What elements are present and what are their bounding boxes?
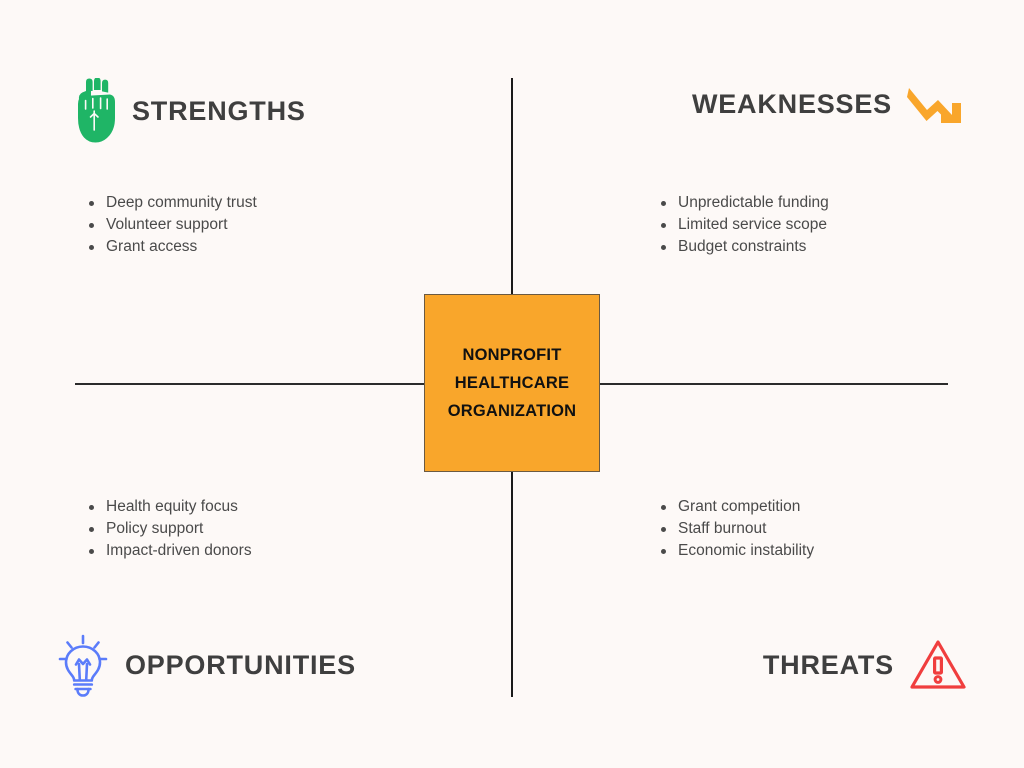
list-item: Grant access — [86, 236, 257, 258]
list-item: Grant competition — [658, 496, 814, 518]
threats-list: Grant competition Staff burnout Economic… — [658, 496, 814, 562]
swot-diagram: STRENGTHS Deep community trust Volunteer… — [0, 0, 1024, 768]
list-item: Unpredictable funding — [658, 192, 829, 214]
list-item: Economic instability — [658, 540, 814, 562]
list-item: Deep community trust — [86, 192, 257, 214]
center-node-line-3: ORGANIZATION — [448, 397, 577, 425]
quadrant-label-strengths: STRENGTHS — [132, 96, 306, 127]
quadrant-label-threats: THREATS — [763, 650, 894, 681]
list-item: Impact-driven donors — [86, 540, 252, 562]
list-item: Volunteer support — [86, 214, 257, 236]
weaknesses-list: Unpredictable funding Limited service sc… — [658, 192, 829, 258]
lightbulb-icon — [55, 633, 111, 697]
trending-down-arrow-icon — [906, 80, 964, 128]
quadrant-heading-opportunities: OPPORTUNITIES — [55, 633, 356, 697]
quadrant-heading-threats: THREATS — [763, 637, 968, 693]
list-item: Budget constraints — [658, 236, 829, 258]
center-node-line-1: NONPROFIT — [463, 341, 562, 369]
raised-fist-icon — [74, 78, 118, 144]
list-item: Policy support — [86, 518, 252, 540]
warning-triangle-icon — [908, 637, 968, 693]
quadrant-label-opportunities: OPPORTUNITIES — [125, 650, 356, 681]
list-item: Health equity focus — [86, 496, 252, 518]
opportunities-list: Health equity focus Policy support Impac… — [86, 496, 252, 562]
center-node: NONPROFIT HEALTHCARE ORGANIZATION — [424, 294, 600, 472]
quadrant-heading-weaknesses: WEAKNESSES — [692, 80, 964, 128]
list-item: Limited service scope — [658, 214, 829, 236]
quadrant-heading-strengths: STRENGTHS — [74, 78, 306, 144]
list-item: Staff burnout — [658, 518, 814, 540]
strengths-list: Deep community trust Volunteer support G… — [86, 192, 257, 258]
quadrant-label-weaknesses: WEAKNESSES — [692, 89, 892, 120]
center-node-line-2: HEALTHCARE — [455, 369, 569, 397]
